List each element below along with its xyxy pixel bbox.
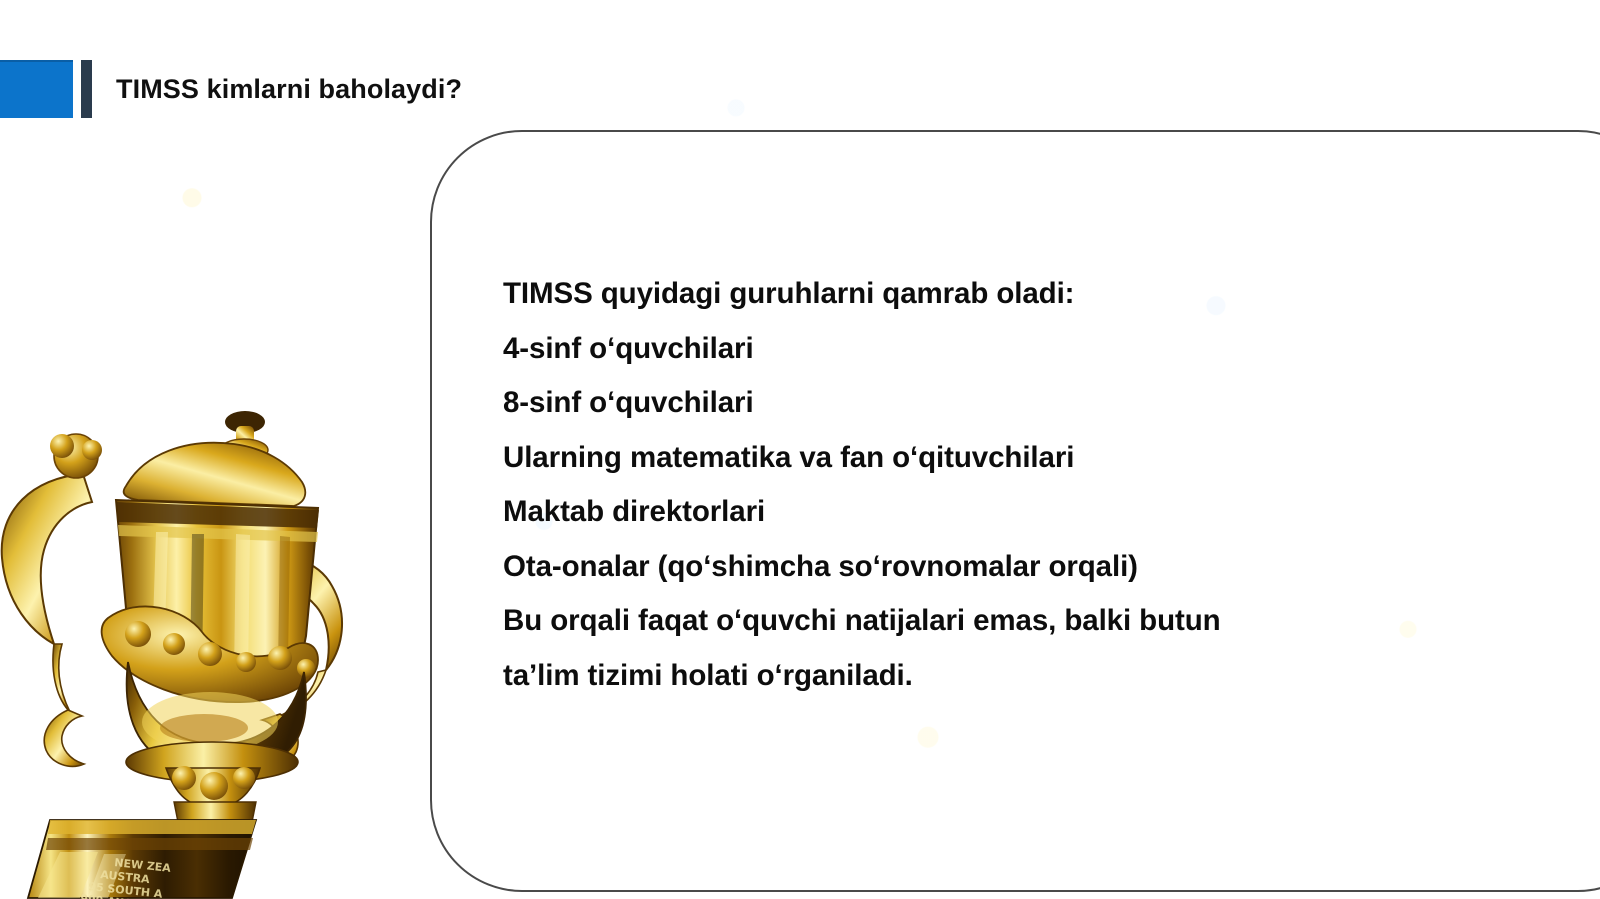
text-line: Ularning matematika va fan oʻqituvchilar… (503, 431, 1403, 486)
trophy-handle-left (2, 434, 102, 766)
text-line: ta’lim tizimi holati oʻrganiladi. (503, 649, 1403, 704)
text-line: 4-sinf oʻquvchilari (503, 322, 1403, 377)
header-accent-block (0, 60, 73, 118)
text-line: Maktab direktorlari (503, 485, 1403, 540)
trophy-lid (124, 411, 306, 506)
text-line: Ota-onalar (qoʻshimcha soʻrovnomalar orq… (503, 540, 1403, 595)
gold-trophy-image: NEW ZEA AUSTRA 95 SOUTH A 999 AUSTRALIA (0, 382, 400, 899)
body-text-block: TIMSS quyidagi guruhlarni qamrab oladi: … (503, 267, 1403, 703)
text-line: TIMSS quyidagi guruhlarni qamrab oladi: (503, 267, 1403, 322)
trophy-stem (166, 766, 260, 822)
trophy-base: NEW ZEA AUSTRA 95 SOUTH A 999 AUSTRALIA (28, 820, 256, 899)
page-title: TIMSS kimlarni baholaydi? (116, 60, 462, 118)
text-line: Bu orqali faqat oʻquvchi natijalari emas… (503, 594, 1403, 649)
text-line: 8-sinf oʻquvchilari (503, 376, 1403, 431)
header-accent-bar (81, 60, 92, 118)
